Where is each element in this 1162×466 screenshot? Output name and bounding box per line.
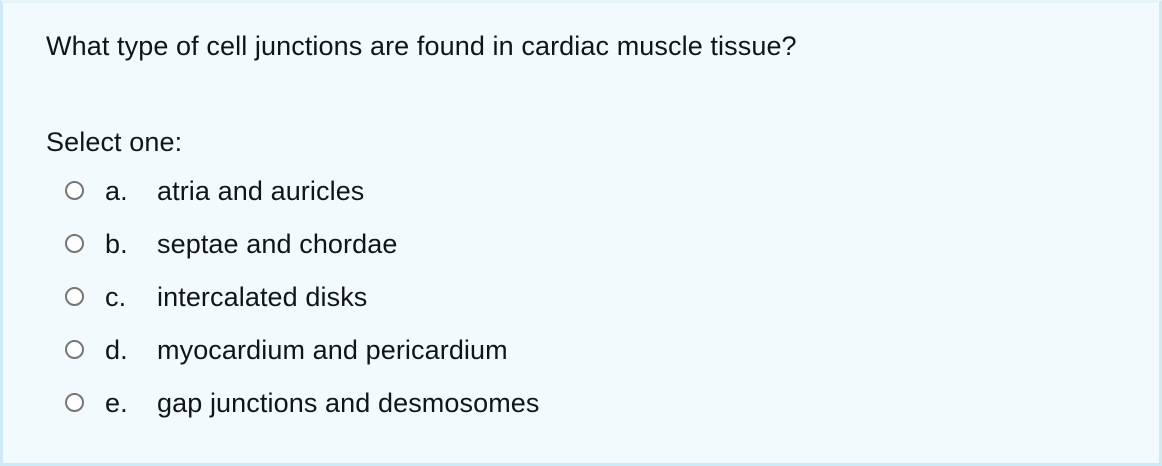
answer-option-b[interactable]: b. septae and chordae	[46, 228, 1106, 281]
answer-letter-c: c.	[105, 281, 157, 313]
answer-options-list: a. atria and auricles b. septae and chor…	[46, 175, 1106, 440]
answer-option-a[interactable]: a. atria and auricles	[46, 175, 1106, 228]
question-panel: What type of cell junctions are found in…	[0, 0, 1162, 466]
radio-button-icon-c[interactable]	[65, 287, 84, 306]
answer-option-c[interactable]: c. intercalated disks	[46, 281, 1106, 334]
radio-button-icon-a[interactable]	[65, 181, 84, 200]
answer-letter-b: b.	[105, 228, 157, 260]
answer-option-d[interactable]: d. myocardium and pericardium	[46, 334, 1106, 387]
answer-label-e: gap junctions and desmosomes	[157, 387, 540, 419]
answer-letter-e: e.	[105, 387, 157, 419]
answer-option-e[interactable]: e. gap junctions and desmosomes	[46, 387, 1106, 440]
question-stem: What type of cell junctions are found in…	[46, 29, 797, 63]
answer-letter-d: d.	[105, 334, 157, 366]
answer-label-a: atria and auricles	[157, 175, 364, 207]
answer-label-c: intercalated disks	[157, 281, 367, 313]
answer-label-d: myocardium and pericardium	[157, 334, 508, 366]
radio-button-icon-b[interactable]	[65, 234, 84, 253]
answer-label-b: septae and chordae	[157, 228, 398, 260]
radio-button-icon-e[interactable]	[65, 393, 84, 412]
answer-letter-a: a.	[105, 175, 157, 207]
radio-button-icon-d[interactable]	[65, 340, 84, 359]
select-one-label: Select one:	[46, 125, 182, 159]
